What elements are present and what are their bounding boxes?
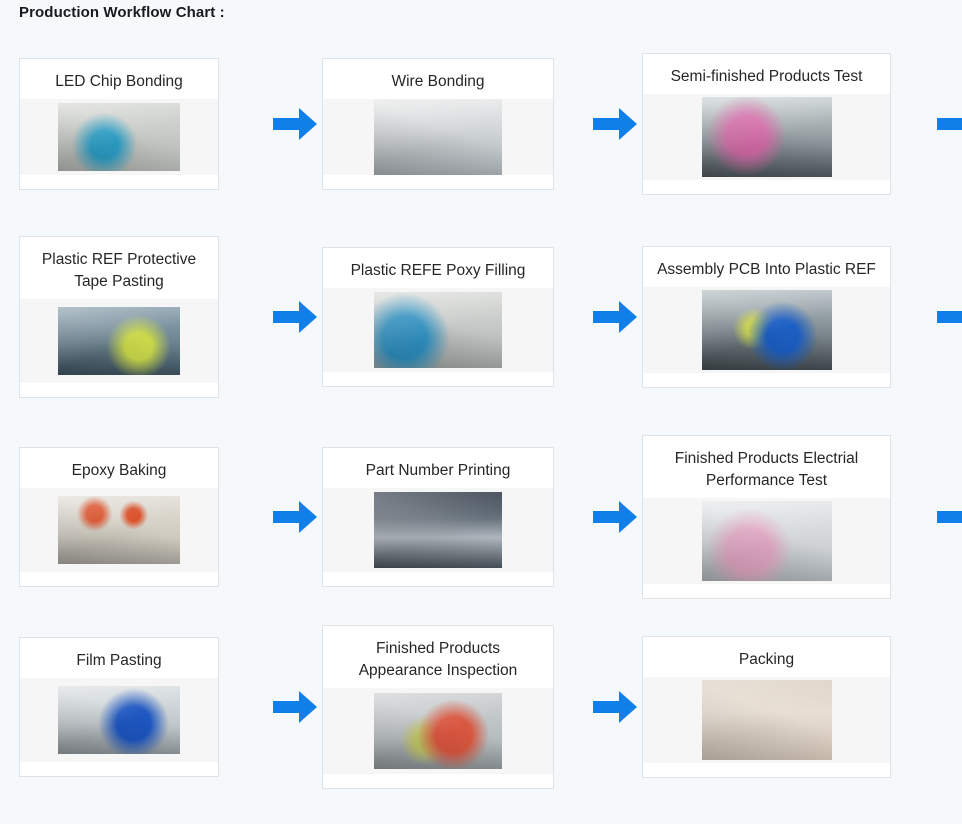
workflow-cell-3-3: Finished Products Electrial Performance … <box>642 422 962 612</box>
step-image-frame <box>643 677 890 763</box>
workflow-cell-2-2: Plastic REFE Poxy Filling <box>322 217 642 417</box>
arrow-right-icon <box>932 493 962 541</box>
step-photo <box>58 496 180 564</box>
workflow-cell-1-2: Wire Bonding <box>322 36 642 212</box>
workflow-cell-3-1: Epoxy Baking <box>0 422 322 612</box>
arrow-right-icon <box>268 293 322 341</box>
step-photo <box>702 97 832 177</box>
step-photo <box>702 501 832 581</box>
workflow-step-card[interactable]: Part Number Printing <box>322 447 554 587</box>
arrow-right-icon <box>268 683 322 731</box>
step-image-frame <box>20 299 218 383</box>
step-image-frame <box>643 94 890 180</box>
step-label: Plastic REFE Poxy Filling <box>323 248 553 288</box>
workflow-grid: LED Chip Bonding Wire Bonding <box>0 36 962 803</box>
workflow-cell-3-2: Part Number Printing <box>322 422 642 612</box>
step-label: Assembly PCB Into Plastic REF <box>643 247 890 287</box>
workflow-step-card[interactable]: Plastic REFE Poxy Filling <box>322 247 554 387</box>
step-photo <box>374 693 502 769</box>
step-image-frame <box>323 288 553 372</box>
step-photo <box>374 292 502 368</box>
arrow-right-icon <box>588 683 642 731</box>
step-photo <box>58 103 180 171</box>
arrow-right-icon <box>268 100 322 148</box>
workflow-cell-2-3: Assembly PCB Into Plastic REF <box>642 217 962 417</box>
workflow-step-card[interactable]: Assembly PCB Into Plastic REF <box>642 246 891 388</box>
workflow-step-card[interactable]: Finished Products Electrial Performance … <box>642 435 891 600</box>
step-image-frame <box>323 488 553 572</box>
step-photo <box>374 492 502 568</box>
workflow-cell-2-1: Plastic REF Protective Tape Pasting <box>0 217 322 417</box>
workflow-step-card[interactable]: Packing <box>642 636 891 778</box>
workflow-step-card[interactable]: Wire Bonding <box>322 58 554 190</box>
step-photo <box>58 307 180 375</box>
workflow-row-3: Epoxy Baking Part Number Printing <box>0 422 962 617</box>
workflow-cell-4-1: Film Pasting <box>0 617 322 797</box>
workflow-step-card[interactable]: LED Chip Bonding <box>19 58 219 190</box>
step-label: Plastic REF Protective Tape Pasting <box>20 237 218 300</box>
workflow-step-card[interactable]: Semi-finished Products Test <box>642 53 891 195</box>
step-label: Film Pasting <box>20 638 218 678</box>
workflow-cell-4-2: Finished Products Appearance Inspection <box>322 617 642 797</box>
workflow-row-1: LED Chip Bonding Wire Bonding <box>0 36 962 217</box>
step-image-frame <box>643 287 890 373</box>
workflow-step-card[interactable]: Finished Products Appearance Inspection <box>322 625 554 790</box>
workflow-step-card[interactable]: Epoxy Baking <box>19 447 219 587</box>
step-label: Wire Bonding <box>323 59 553 99</box>
step-image-frame <box>323 99 553 175</box>
step-label: LED Chip Bonding <box>20 59 218 99</box>
arrow-right-icon <box>932 100 962 148</box>
step-label: Epoxy Baking <box>20 448 218 488</box>
step-label: Semi-finished Products Test <box>643 54 890 94</box>
workflow-step-card[interactable]: Plastic REF Protective Tape Pasting <box>19 236 219 399</box>
workflow-chart-page: Production Workflow Chart : LED Chip Bon… <box>0 0 962 824</box>
workflow-step-card[interactable]: Film Pasting <box>19 637 219 777</box>
step-label: Part Number Printing <box>323 448 553 488</box>
step-label: Finished Products Appearance Inspection <box>323 626 553 689</box>
arrow-right-icon <box>588 100 642 148</box>
arrow-right-icon <box>932 293 962 341</box>
arrow-right-icon <box>268 493 322 541</box>
step-photo <box>58 686 180 754</box>
step-image-frame <box>643 498 890 584</box>
workflow-row-2: Plastic REF Protective Tape Pasting Plas… <box>0 217 962 422</box>
workflow-cell-1-3: Semi-finished Products Test <box>642 36 962 212</box>
step-photo <box>702 680 832 760</box>
workflow-row-4: Film Pasting Finished Products Appearanc… <box>0 617 962 803</box>
arrow-right-icon <box>588 493 642 541</box>
step-image-frame <box>323 688 553 774</box>
step-image-frame <box>20 99 218 175</box>
step-image-frame <box>20 678 218 762</box>
arrow-right-icon <box>588 293 642 341</box>
step-photo <box>374 99 502 175</box>
workflow-cell-1-1: LED Chip Bonding <box>0 36 322 212</box>
step-label: Packing <box>643 637 890 677</box>
page-title: Production Workflow Chart : <box>19 4 225 21</box>
workflow-cell-4-3: Packing <box>642 617 962 797</box>
step-image-frame <box>20 488 218 572</box>
step-photo <box>702 290 832 370</box>
step-label: Finished Products Electrial Performance … <box>643 436 890 499</box>
